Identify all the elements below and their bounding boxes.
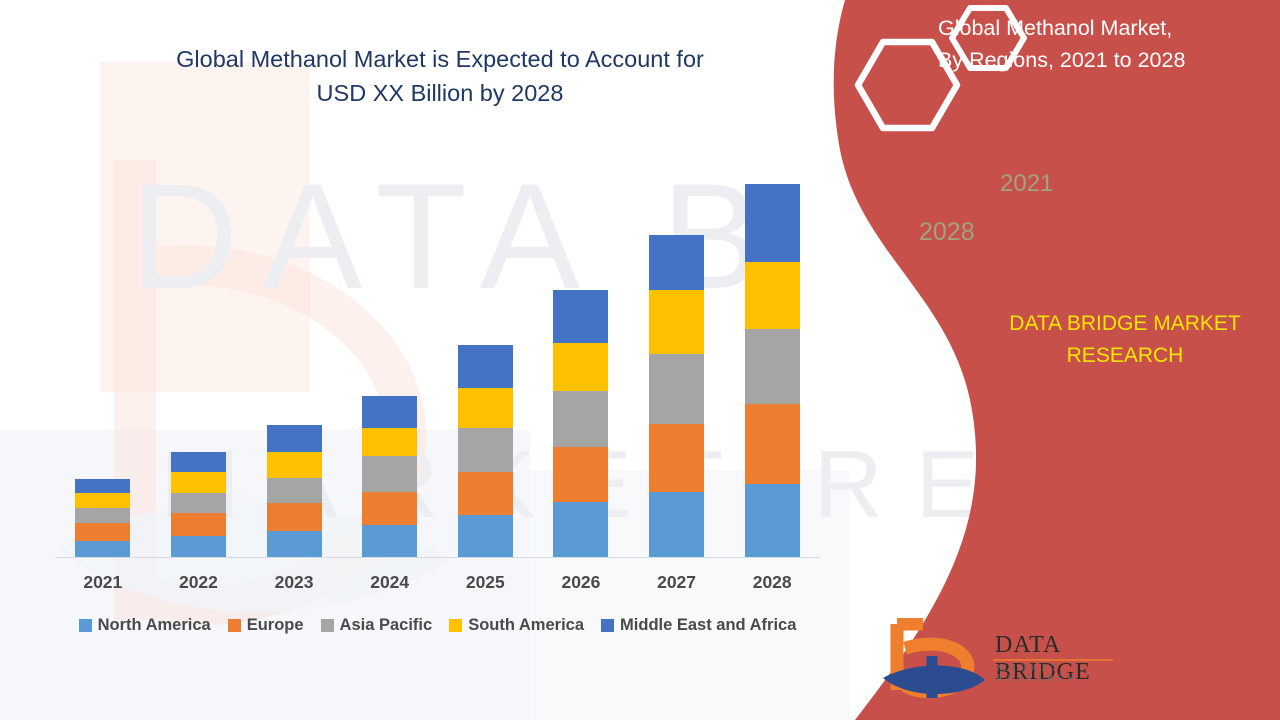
- bar-slot: [629, 140, 725, 557]
- legend-item[interactable]: South America: [449, 616, 584, 635]
- bar-segment[interactable]: [267, 478, 322, 503]
- slide-canvas: DATA B MARKET RESEA Global Methanol Mark…: [0, 0, 1280, 720]
- x-axis-label: 2021: [55, 572, 151, 593]
- bar-segment[interactable]: [553, 343, 608, 391]
- legend-label: Asia Pacific: [340, 616, 433, 635]
- bar-segment[interactable]: [649, 235, 704, 290]
- x-axis-labels: 20212022202320242025202620272028: [55, 572, 820, 593]
- bar-segment[interactable]: [75, 493, 130, 508]
- x-axis-label: 2027: [629, 572, 725, 593]
- bar-segment[interactable]: [171, 472, 226, 493]
- right-branding-panel: Global Methanol Market, By Regions, 2021…: [820, 0, 1280, 720]
- stacked-bar[interactable]: [553, 290, 608, 557]
- bar-segment[interactable]: [553, 391, 608, 447]
- bar-segment[interactable]: [362, 456, 417, 492]
- chart-plot-area: [55, 140, 820, 558]
- legend-item[interactable]: Europe: [228, 616, 304, 635]
- bar-segment[interactable]: [553, 290, 608, 343]
- legend-swatch-icon: [321, 619, 334, 632]
- bar-segment[interactable]: [649, 290, 704, 354]
- bar-slot: [438, 140, 534, 557]
- bar-segment[interactable]: [362, 428, 417, 456]
- bar-segment[interactable]: [75, 541, 130, 557]
- bar-segment[interactable]: [362, 492, 417, 525]
- stacked-bar[interactable]: [75, 479, 130, 557]
- legend-swatch-icon: [79, 619, 92, 632]
- brand-name-line2: RESEARCH: [1067, 344, 1184, 367]
- company-logo: DATA BRIDGE MARKET RESEARCH: [875, 618, 1125, 706]
- x-axis-label: 2025: [438, 572, 534, 593]
- bar-segment[interactable]: [75, 523, 130, 541]
- stacked-bar[interactable]: [745, 184, 800, 557]
- hex-badge-label-2028: 2028: [919, 218, 975, 247]
- bar-segment[interactable]: [171, 452, 226, 472]
- bar-group: [55, 140, 820, 557]
- bar-segment[interactable]: [267, 531, 322, 557]
- hexagon-badges-icon: [820, 0, 1070, 135]
- bar-segment[interactable]: [267, 425, 322, 452]
- bar-segment[interactable]: [458, 428, 513, 472]
- x-axis-label: 2022: [151, 572, 247, 593]
- legend-label: Middle East and Africa: [620, 616, 796, 635]
- bar-segment[interactable]: [171, 513, 226, 536]
- bar-segment[interactable]: [649, 354, 704, 424]
- brand-name-line1: DATA BRIDGE MARKET: [1009, 312, 1240, 335]
- legend-label: Europe: [247, 616, 304, 635]
- stacked-bar[interactable]: [267, 425, 322, 557]
- bar-segment[interactable]: [362, 396, 417, 428]
- bar-segment[interactable]: [267, 503, 322, 531]
- bar-segment[interactable]: [458, 472, 513, 515]
- legend-label: North America: [98, 616, 211, 635]
- chart-title: Global Methanol Market is Expected to Ac…: [60, 42, 820, 110]
- bar-segment[interactable]: [745, 484, 800, 557]
- bar-segment[interactable]: [171, 536, 226, 557]
- bar-segment[interactable]: [553, 447, 608, 502]
- bar-segment[interactable]: [458, 515, 513, 557]
- bar-segment[interactable]: [553, 502, 608, 557]
- legend-item[interactable]: Asia Pacific: [321, 616, 433, 635]
- bar-slot: [246, 140, 342, 557]
- bar-segment[interactable]: [745, 329, 800, 404]
- bar-segment[interactable]: [458, 345, 513, 388]
- bar-slot: [342, 140, 438, 557]
- chart-title-line2: USD XX Billion by 2028: [317, 80, 564, 106]
- bar-slot: [724, 140, 820, 557]
- bar-slot: [55, 140, 151, 557]
- bar-segment[interactable]: [267, 452, 322, 478]
- x-axis-label: 2023: [246, 572, 342, 593]
- hex-badge-label-2021: 2021: [1000, 170, 1053, 198]
- stacked-bar[interactable]: [649, 235, 704, 557]
- x-axis-line: [55, 557, 820, 558]
- stacked-bar[interactable]: [171, 452, 226, 557]
- bar-segment[interactable]: [458, 388, 513, 428]
- company-logo-text-sub: MARKET RESEARCH: [997, 664, 1125, 684]
- brand-name: DATA BRIDGE MARKET RESEARCH: [975, 308, 1275, 372]
- legend-label: South America: [468, 616, 584, 635]
- legend-swatch-icon: [449, 619, 462, 632]
- bar-slot: [151, 140, 247, 557]
- x-axis-label: 2024: [342, 572, 438, 593]
- bar-slot: [533, 140, 629, 557]
- bar-segment[interactable]: [745, 184, 800, 262]
- bar-segment[interactable]: [649, 492, 704, 557]
- chart-legend: North AmericaEuropeAsia PacificSouth Ame…: [55, 616, 820, 635]
- bar-segment[interactable]: [745, 262, 800, 329]
- legend-item[interactable]: North America: [79, 616, 211, 635]
- bar-segment[interactable]: [171, 493, 226, 513]
- legend-swatch-icon: [601, 619, 614, 632]
- stacked-bar[interactable]: [458, 345, 513, 557]
- legend-item[interactable]: Middle East and Africa: [601, 616, 796, 635]
- bar-segment[interactable]: [75, 508, 130, 523]
- bar-segment[interactable]: [362, 525, 417, 557]
- chart-title-line1: Global Methanol Market is Expected to Ac…: [176, 46, 704, 72]
- legend-swatch-icon: [228, 619, 241, 632]
- bar-segment[interactable]: [75, 479, 130, 493]
- x-axis-label: 2028: [724, 572, 820, 593]
- bar-segment[interactable]: [649, 424, 704, 492]
- stacked-bar[interactable]: [362, 396, 417, 557]
- bar-segment[interactable]: [745, 404, 800, 484]
- x-axis-label: 2026: [533, 572, 629, 593]
